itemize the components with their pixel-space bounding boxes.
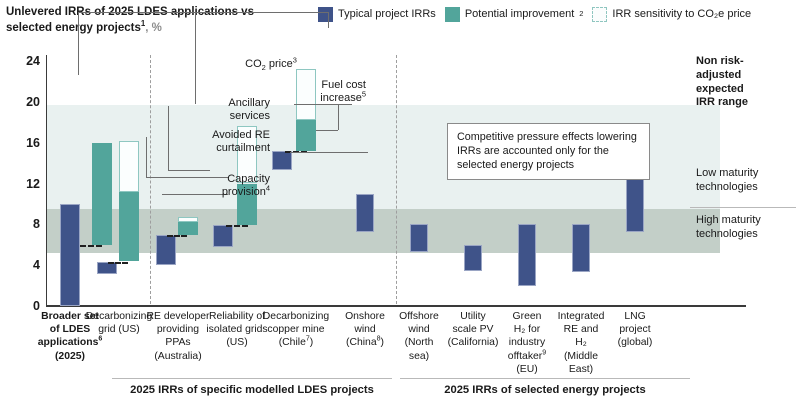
group-label-energy: 2025 IRRs of selected energy projects [400, 384, 690, 396]
annotation-co2-footnote: 3 [293, 56, 297, 65]
callout-box: Competitive pressure effects lowering IR… [447, 123, 650, 180]
y-tick-16: 16 [0, 136, 40, 150]
legend-swatch-dashed-icon [592, 7, 607, 22]
annotation-capacity-provision: Capacity provision4 [160, 173, 270, 200]
x-label-text: Green H₂ for industry offtaker [508, 311, 545, 362]
leader-avoided-v [146, 137, 147, 177]
x-label-footnote: 9 [542, 349, 546, 356]
y-axis-line [46, 55, 47, 306]
leader-co2-bar2 [78, 12, 79, 75]
separator-left [150, 55, 151, 304]
bar-segment-improvement [296, 120, 316, 151]
leader-copper-h [290, 152, 368, 153]
bar-segment-sensitivity [119, 141, 139, 192]
group-rule-energy [400, 378, 690, 379]
x-label-4: Decarbonizing copper mine (Chile7) [259, 310, 333, 350]
x-label-text: Decarbonizing copper mine (Chile [263, 311, 329, 348]
bar-segment-typical [213, 225, 233, 246]
x-label-6: Offshore wind (North sea) [393, 310, 445, 363]
x-label-tail: ) [381, 337, 384, 348]
annotation-co2-price: CO2 price3 [196, 45, 346, 72]
legend-label-typical: Typical project IRRs [338, 8, 436, 20]
x-label-10: LNG project (global) [611, 310, 659, 350]
band-high-maturity [47, 209, 720, 253]
bar-segment-improvement [178, 222, 198, 234]
leader-fuel-h [316, 130, 338, 131]
leader-fuel-v [338, 104, 339, 130]
bar-group[interactable] [626, 61, 644, 306]
label-non-risk-adjusted-range: Non risk- adjusted expected IRR range [696, 55, 796, 110]
label-low-maturity-technologies: Low maturity technologies [696, 167, 796, 195]
bar-group[interactable] [572, 61, 590, 306]
bar-segment-typical [272, 151, 292, 170]
bar-segment-typical [410, 224, 428, 252]
separator-right [396, 55, 397, 304]
legend-item-typical[interactable]: Typical project IRRs [318, 7, 436, 22]
annotation-co2-rest: price [266, 58, 293, 70]
x-label-7: Utility scale PV (California) [445, 310, 501, 350]
x-label-text: Utility scale PV (California) [448, 311, 499, 348]
y-tick-24: 24 [0, 54, 40, 68]
leader-co2-spine [78, 12, 328, 13]
callout-text: Competitive pressure effects lowering IR… [457, 131, 637, 171]
leader-ancillary-h [168, 170, 210, 171]
bar-connector-dashed [80, 245, 102, 247]
y-tick-20: 20 [0, 95, 40, 109]
bar-group[interactable] [410, 61, 428, 306]
bar-connector-dashed [167, 235, 187, 237]
x-label-tail: (2025) [55, 351, 85, 362]
legend-swatch-navy-icon [318, 7, 333, 22]
bar-segment-improvement [119, 192, 139, 261]
x-axis-labels: Broader set of LDES applications6 (2025)… [0, 310, 800, 372]
annotation-capacity-footnote: 4 [266, 184, 270, 193]
bar-segment-typical [356, 194, 374, 233]
annotation-fuel-text: Fuel cost increase [320, 79, 366, 104]
x-label-tail: (EU) [516, 364, 537, 375]
legend-label-sensitivity: IRR sensitivity to CO₂e price [612, 8, 751, 20]
legend: Typical project IRRs Potential improveme… [318, 6, 798, 22]
x-label-5: Onshore wind (China8) [339, 310, 391, 350]
x-label-text: LNG project (global) [618, 311, 653, 348]
x-label-9: Integrated RE and H₂ (Middle East) [553, 310, 609, 376]
bar-connector-dashed [108, 262, 128, 264]
bar-group[interactable] [464, 61, 482, 306]
bar-segment-typical [156, 235, 176, 266]
bar-segment-typical [464, 245, 482, 272]
x-label-8: Green H₂ for industry offtaker9 (EU) [501, 310, 553, 376]
bar-segment-typical [572, 224, 590, 272]
bar-connector-dashed [226, 225, 248, 227]
annotation-ancillary-services: Ancillary services [176, 97, 270, 124]
group-rule-ldes [112, 378, 392, 379]
title-line-2: selected energy projects [6, 22, 141, 34]
leader-co2-bar5 [328, 12, 329, 28]
y-tick-4: 4 [0, 258, 40, 272]
bar-group[interactable] [518, 61, 536, 306]
x-label-text: Integrated RE and H₂ (Middle East) [558, 311, 605, 375]
chart-plot-area: 24201612840 [47, 61, 720, 306]
group-label-ldes: 2025 IRRs of specific modelled LDES proj… [112, 384, 392, 396]
legend-item-sensitivity[interactable]: IRR sensitivity to CO₂e price [592, 7, 751, 22]
bar-group[interactable] [60, 61, 80, 306]
bar-group[interactable] [109, 61, 129, 306]
annotation-co2-price-text: CO [245, 58, 262, 70]
annotation-fuel-footnote: 5 [362, 90, 366, 99]
page-title: Unlevered IRRs of 2025 LDES applications… [6, 5, 336, 37]
bar-segment-typical [60, 204, 80, 306]
legend-swatch-teal-icon [445, 7, 460, 22]
legend-label-improvement: Potential improvement [465, 8, 574, 20]
x-label-tail: ) [310, 337, 313, 348]
x-label-footnote: 6 [98, 336, 102, 343]
bar-segment-typical [518, 224, 536, 285]
x-label-text: Offshore wind (North sea) [399, 311, 439, 362]
y-axis-ticks: 24201612840 [0, 61, 40, 306]
right-label-divider [690, 207, 796, 208]
legend-item-improvement[interactable]: Potential improvement2 [445, 7, 584, 22]
annotation-capacity-text: Capacity provision [222, 173, 270, 198]
y-tick-12: 12 [0, 177, 40, 191]
annotation-avoided-re-curtailment: Avoided RE curtailment [166, 129, 270, 156]
annotation-fuel-cost-increase: Fuel cost increase5 [300, 79, 366, 106]
title-unit: , % [145, 22, 162, 34]
y-tick-8: 8 [0, 217, 40, 231]
label-high-maturity-technologies: High maturity technologies [696, 214, 796, 242]
